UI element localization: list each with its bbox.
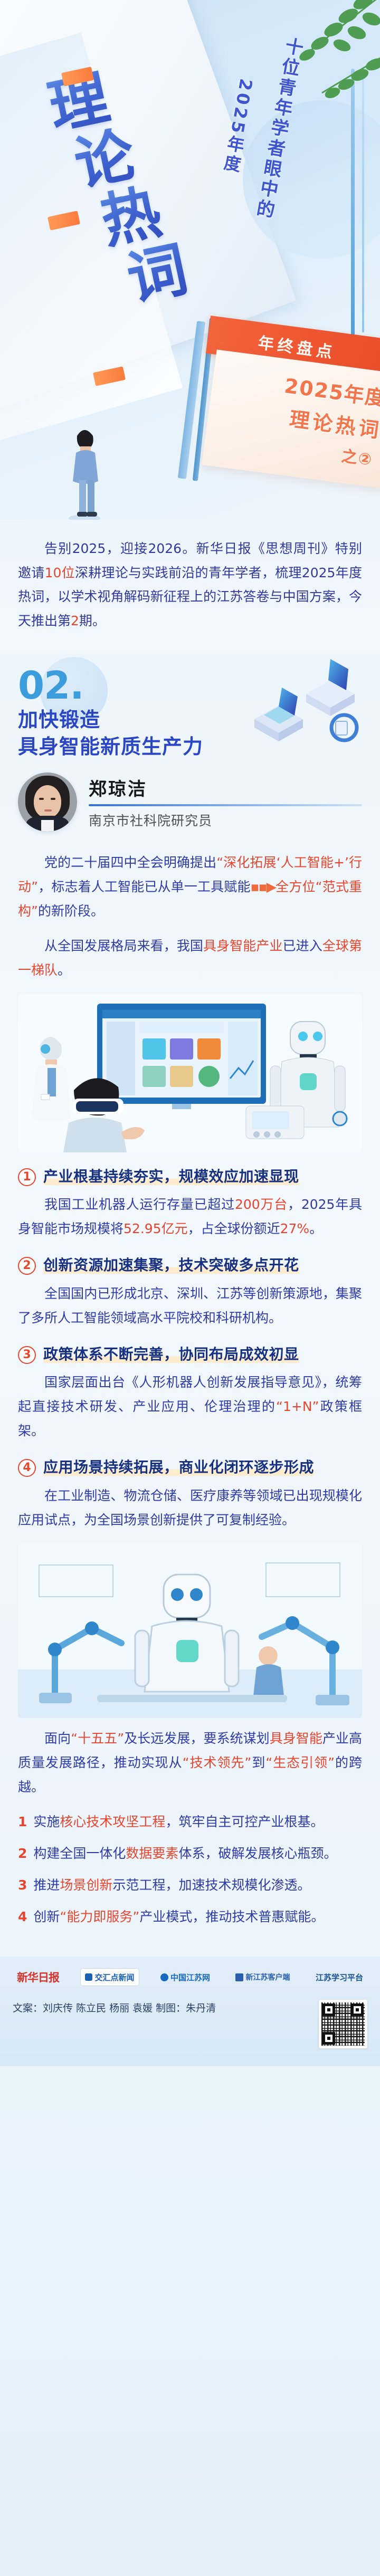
- intro-highlight-2: 2: [71, 613, 79, 628]
- easel-card: 2025年度 理论热词 之②: [202, 349, 380, 488]
- avatar-face: [34, 785, 61, 818]
- p1b-hl3: 27%: [280, 1221, 310, 1236]
- intro-text-c: 期。: [79, 613, 106, 628]
- body-paragraph-2: 从全国发展格局来看，我国具身智能产业已进入全球第一梯队。: [18, 934, 362, 982]
- author-block: 郑琼洁 南京市社科院研究员: [0, 765, 380, 843]
- ci4-a: 创新: [33, 1909, 60, 1924]
- logo-xinhua-daily[interactable]: 新华日报: [13, 1968, 63, 1986]
- logo-xin-jiangsu-label: 新江苏客户端: [245, 1972, 290, 1982]
- cl-hl1: “十五五”: [71, 1731, 124, 1746]
- hero-section: 理 论 热 词 十位青年学者眼中的 2025年度 年终盘点: [0, 0, 380, 520]
- ci2-a: 构建全国一体化: [33, 1846, 126, 1861]
- closing-item-1: 1 实施核心技术攻坚工程，筑牢自主可控产业根基。: [18, 1810, 362, 1834]
- p1-text-b: ，标志着人工智能已从单一工具赋能: [38, 879, 251, 894]
- qr-eye-bottom-left: [322, 2032, 335, 2045]
- article-body: 党的二十届四中全会明确提出“深化拓展‘人工智能+’行动”，标志着人工智能已从单一…: [0, 843, 380, 1718]
- closing-lead: 面向“十五五”及长远发展，要系统谋划具身智能产业高质量发展路径，推动实现从“技术…: [18, 1726, 362, 1799]
- point-1: 1 产业根基持续夯实，规模效应加速显现: [18, 1166, 362, 1188]
- closing-item-3-text: 推进场景创新示范工程，加速技术规模化渗透。: [33, 1873, 362, 1897]
- ci1-b: ，筑牢自主可控产业根基。: [165, 1814, 324, 1829]
- p2-text-b: 已进入: [283, 938, 322, 953]
- ci1-a: 实施: [33, 1814, 60, 1829]
- p1-text-a: 党的二十届四中全会明确提出: [44, 855, 216, 870]
- p2-highlight-1: 具身智能产业: [203, 938, 283, 953]
- author-info: 郑琼洁 南京市社科院研究员: [89, 775, 362, 829]
- ci3-hl: 场景创新: [60, 1877, 112, 1893]
- closing-item-1-text: 实施核心技术攻坚工程，筑牢自主可控产业根基。: [33, 1810, 362, 1834]
- poster-root: 理 论 热 词 十位青年学者眼中的 2025年度 年终盘点: [0, 0, 380, 2576]
- ci1-hl: 核心技术攻坚工程: [60, 1814, 165, 1829]
- isometric-devices-illustration: [239, 656, 370, 751]
- cl-hl2: 具身智能: [270, 1731, 322, 1746]
- illustration-robot-factory: [18, 1544, 362, 1718]
- footer: 新华日报 交汇点新闻 中国江苏网 新江苏客户端 江苏学习平台 文案：刘庆传 陈立…: [0, 1957, 380, 2066]
- point-3: 3 政策体系不断完善，协同布局成效初显: [18, 1344, 362, 1366]
- closing-item-4-number: 4: [18, 1905, 27, 1929]
- p1b-a: 我国工业机器人运行存量已超过: [44, 1197, 235, 1212]
- point-1-body: 我国工业机器人运行存量已超过200万台，2025年具身智能市场规模将52.95亿…: [18, 1192, 362, 1241]
- closing-item-2-text: 构建全国一体化数据要素体系，破解发展核心瓶颈。: [33, 1842, 362, 1866]
- qr-eye-top-left: [322, 2003, 335, 2016]
- ci2-hl: 数据要素: [126, 1846, 178, 1861]
- cl-hl4: “生态引领”: [265, 1755, 335, 1770]
- p1b-hl2: 52.95亿元: [123, 1221, 188, 1236]
- point-2-body: 全国国内已形成北京、深圳、江苏等创新策源地，集聚了多所人工智能领域高水平院校和科…: [18, 1282, 362, 1330]
- p2-text-a: 从全国发展格局来看，我国: [44, 938, 203, 953]
- ci4-hl: “能力即服务”: [60, 1909, 139, 1924]
- p1-text-c: 的新阶段。: [38, 903, 104, 919]
- cl-hl3: “技术领先”: [183, 1755, 252, 1770]
- p1b-c: ，占全球份额近: [188, 1221, 280, 1236]
- ci3-a: 推进: [33, 1877, 60, 1893]
- point-4-body: 在工业制造、物流仓储、医疗康养等领域已出现规模化应用试点，为全国场景创新提供了可…: [18, 1484, 362, 1532]
- closing-item-2: 2 构建全国一体化数据要素体系，破解发展核心瓶颈。: [18, 1842, 362, 1866]
- avatar: [18, 772, 77, 832]
- p3b-hl1: “1+N”: [276, 1399, 319, 1414]
- intro-paragraph: 告别2025，迎接2026。新华日报《思想周刊》特别邀请10位深耕理论与实践前沿…: [18, 537, 362, 633]
- logo-jiaohuidian-label: 交汇点新闻: [94, 1972, 134, 1983]
- closing-section: 面向“十五五”及长远发展，要系统谋划具身智能产业高质量发展路径，推动实现从“技术…: [0, 1721, 380, 1943]
- avatar-collar: [41, 820, 54, 832]
- qr-eye-top-right: [351, 2003, 364, 2016]
- closing-item-4: 4 创新“能力即服务”产业模式，推动技术普惠赋能。: [18, 1905, 362, 1929]
- section-header: 02. 加快锻造 具身智能新质生产力: [0, 654, 380, 765]
- xin-jiangsu-mark-icon: [235, 1973, 243, 1981]
- arrow-icon: ▪▪▶: [251, 879, 276, 894]
- logo-jiaohuidian[interactable]: 交汇点新闻: [80, 1968, 139, 1986]
- closing-item-3-number: 3: [18, 1873, 27, 1897]
- qr-code[interactable]: [319, 2000, 367, 2048]
- p1b-hl1: 200万台: [235, 1197, 288, 1212]
- point-1-number: 1: [18, 1168, 36, 1186]
- point-2-title: 创新资源加速集聚，技术突破多点开花: [43, 1256, 299, 1274]
- closing-item-1-number: 1: [18, 1810, 27, 1834]
- footer-logo-row: 新华日报 交汇点新闻 中国江苏网 新江苏客户端 江苏学习平台: [13, 1968, 367, 1986]
- avatar-eye-left: [39, 798, 44, 800]
- jiaohuidian-mark-icon: [85, 1973, 92, 1981]
- intro-highlight-1: 10位: [45, 565, 75, 580]
- p2-text-c: 。: [58, 962, 71, 978]
- avatar-eye-right: [51, 798, 55, 800]
- easel-sign: 年终盘点 2025年度 理论热词 之②: [182, 316, 380, 490]
- logo-zhongguo-jiangsu[interactable]: 中国江苏网: [156, 1968, 214, 1986]
- credits-line: 文案：刘庆传 陈立民 杨丽 袁媛 制图：朱丹清: [13, 2000, 310, 2017]
- illustration-medical-robot: [18, 994, 362, 1152]
- footer-credits: 文案：刘庆传 陈立民 杨丽 袁媛 制图：朱丹清: [13, 2000, 367, 2048]
- author-divider: [89, 804, 362, 806]
- avatar-mouth: [44, 809, 52, 812]
- logo-xin-jiangsu[interactable]: 新江苏客户端: [231, 1968, 294, 1986]
- cl-d: 到: [251, 1755, 265, 1770]
- ci3-b: 示范工程，加速技术规模化渗透。: [112, 1877, 310, 1893]
- closing-item-2-number: 2: [18, 1842, 27, 1866]
- closing-list: 1 实施核心技术攻坚工程，筑牢自主可控产业根基。 2 构建全国一体化数据要素体系…: [18, 1810, 362, 1929]
- cl-a: 面向: [44, 1731, 71, 1746]
- qr-code-pattern: [321, 2002, 365, 2046]
- intro-section: 告别2025，迎接2026。新华日报《思想周刊》特别邀请10位深耕理论与实践前沿…: [0, 520, 380, 654]
- logo-zhongguo-jiangsu-label: 中国江苏网: [170, 1972, 210, 1983]
- p1b-d: 。: [309, 1221, 322, 1236]
- point-2-number: 2: [18, 1257, 36, 1275]
- cl-b: 及长远发展，要系统谋划: [124, 1731, 270, 1746]
- zhongguo-jiangsu-mark-icon: [160, 1973, 168, 1981]
- point-4: 4 应用场景持续拓展，商业化闭环逐步形成: [18, 1457, 362, 1478]
- ci4-b: 产业模式，推动技术普惠赋能。: [139, 1909, 324, 1924]
- point-3-title: 政策体系不断完善，协同布局成效初显: [43, 1346, 299, 1363]
- author-title: 南京市社科院研究员: [89, 810, 362, 829]
- point-4-title: 应用场景持续拓展，商业化闭环逐步形成: [43, 1458, 314, 1476]
- point-4-number: 4: [18, 1459, 36, 1477]
- point-3-body: 国家层面出台《人形机器人创新发展指导意见》，统筹起直接技术研发、产业应用、伦理治…: [18, 1370, 362, 1443]
- body-paragraph-1: 党的二十届四中全会明确提出“深化拓展‘人工智能+’行动”，标志着人工智能已从单一…: [18, 851, 362, 923]
- person-illustration: [51, 417, 119, 520]
- point-3-number: 3: [18, 1346, 36, 1364]
- ci2-b: 体系，破解发展核心瓶颈。: [178, 1846, 337, 1861]
- logo-jiangsu-xuexi[interactable]: 江苏学习平台: [311, 1968, 367, 1986]
- point-1-title: 产业根基持续夯实，规模效应加速显现: [43, 1168, 299, 1185]
- point-2: 2 创新资源加速集聚，技术突破多点开花: [18, 1255, 362, 1276]
- closing-item-4-text: 创新“能力即服务”产业模式，推动技术普惠赋能。: [33, 1905, 362, 1929]
- closing-item-3: 3 推进场景创新示范工程，加速技术规模化渗透。: [18, 1873, 362, 1897]
- author-name: 郑琼洁: [89, 775, 362, 800]
